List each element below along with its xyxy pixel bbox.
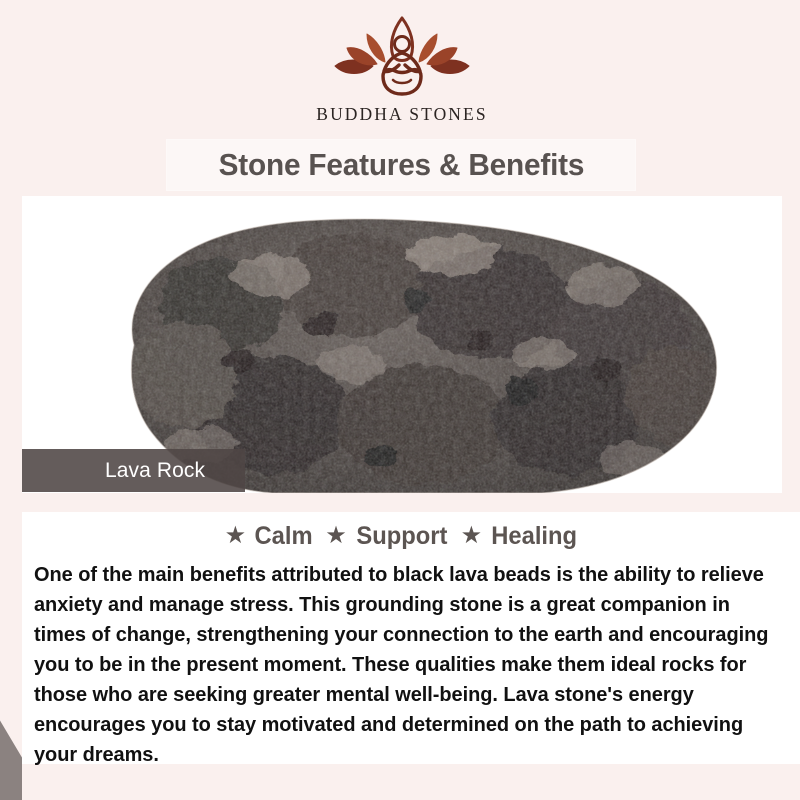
stone-name-label: Lava Rock bbox=[105, 459, 205, 483]
description-paragraph: One of the main benefits attributed to b… bbox=[34, 560, 779, 770]
title-banner: Stone Features & Benefits bbox=[167, 140, 635, 190]
lotus-meditation-figure-icon bbox=[327, 14, 477, 100]
brand-name: BUDDHA STONES bbox=[316, 104, 487, 125]
stone-name-badge: Lava Rock bbox=[22, 449, 245, 492]
star-icon: ★ bbox=[225, 524, 247, 548]
infographic-card: BUDDHA STONES bbox=[0, 0, 800, 800]
content-panel: ★ Calm ★ Support ★ Healing One of the ma… bbox=[22, 512, 800, 764]
benefit-label: Calm bbox=[255, 522, 313, 551]
star-icon: ★ bbox=[461, 524, 483, 548]
page-title: Stone Features & Benefits bbox=[218, 147, 584, 183]
benefits-row: ★ Calm ★ Support ★ Healing bbox=[22, 522, 782, 551]
brand-logo: BUDDHA STONES bbox=[22, 14, 782, 125]
benefit-label: Healing bbox=[491, 522, 577, 551]
benefit-item-healing: ★ Healing bbox=[461, 522, 580, 551]
photo-divider-strip bbox=[22, 493, 782, 512]
benefit-item-support: ★ Support bbox=[325, 522, 449, 551]
star-icon: ★ bbox=[325, 524, 347, 548]
benefit-item-calm: ★ Calm bbox=[225, 522, 315, 551]
benefit-label: Support bbox=[356, 522, 447, 551]
